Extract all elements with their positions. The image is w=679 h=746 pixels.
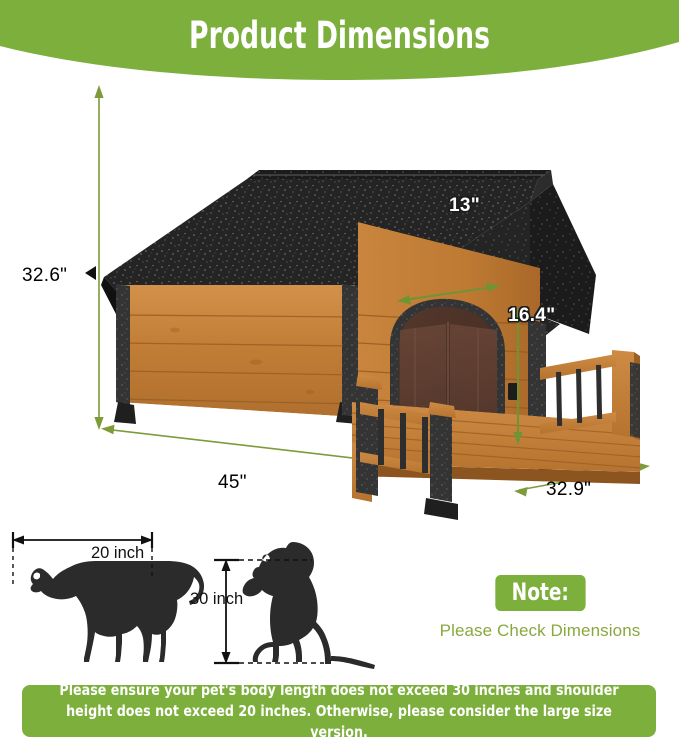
product-dimensions-infographic: Product Dimensions <box>0 0 679 746</box>
note-block: Note: Please Check Dimensions <box>420 575 660 641</box>
corner-post-mid <box>342 284 358 417</box>
rail-post-front <box>430 412 452 502</box>
page-title: Product Dimensions <box>68 14 611 58</box>
footer-text: Please ensure your pet's body length doe… <box>41 680 637 743</box>
dimension-label-door-width: 13" <box>449 195 480 217</box>
standing-dog-silhouette <box>31 561 204 662</box>
corner-post-left <box>116 284 130 406</box>
pet-height-label: 30 inch <box>190 590 243 609</box>
footer-banner: Please ensure your pet's body length doe… <box>22 685 656 737</box>
height-pointer-icon <box>84 264 98 282</box>
dimension-label-width: 45" <box>218 472 247 494</box>
note-text: Please Check Dimensions <box>420 621 660 641</box>
pet-length-label: 20 inch <box>91 544 144 563</box>
dimension-label-depth: 32.9" <box>546 479 591 501</box>
sitting-dog-silhouette <box>243 542 375 669</box>
footer-line-2: does not exceed 20 inches. Otherwise, pl… <box>117 702 612 741</box>
header-banner: Product Dimensions <box>0 0 679 80</box>
dimension-label-door-height: 16.4" <box>508 305 556 327</box>
dog-house-illustration <box>0 72 679 522</box>
side-wall <box>118 285 357 417</box>
note-badge: Note: <box>495 575 585 611</box>
foot-front <box>424 498 458 520</box>
dimension-label-height: 32.6" <box>22 265 67 287</box>
foot-left-rear <box>114 402 136 424</box>
